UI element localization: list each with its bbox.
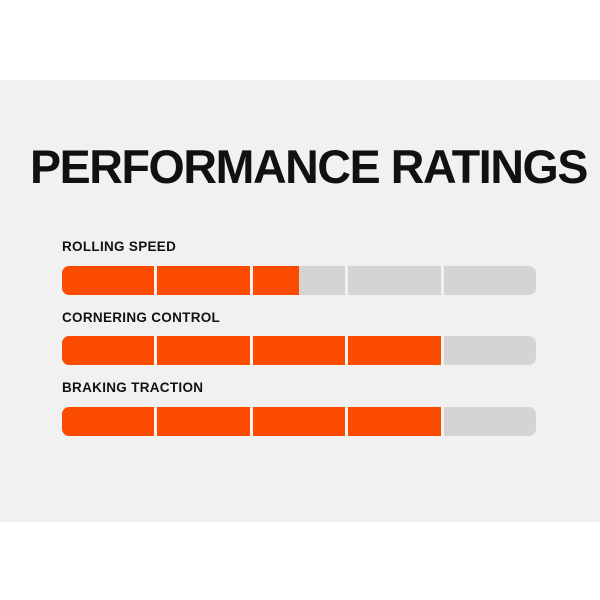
- rating-segment: [253, 407, 345, 436]
- rating-segment-fill: [253, 407, 345, 436]
- rating-segment: [348, 407, 440, 436]
- rating-segment: [157, 336, 249, 365]
- rating-label: CORNERING CONTROL: [62, 311, 536, 325]
- rating-segment-fill: [62, 266, 154, 295]
- rating-segment-fill: [157, 407, 249, 436]
- rating-segment-fill: [62, 336, 154, 365]
- rating-segment: [157, 266, 249, 295]
- ratings-list: ROLLING SPEEDCORNERING CONTROLBRAKING TR…: [62, 240, 536, 436]
- rating-bar: [62, 336, 536, 365]
- rating-segment-fill: [253, 336, 345, 365]
- rating-segment-fill: [348, 336, 440, 365]
- rating-segment: [348, 336, 440, 365]
- rating-segment-fill: [253, 266, 299, 295]
- rating-segment: [444, 407, 536, 436]
- rating-segment: [62, 266, 154, 295]
- rating-segment-fill: [157, 266, 249, 295]
- rating-segment: [253, 266, 345, 295]
- rating-segment: [157, 407, 249, 436]
- rating-row: CORNERING CONTROL: [62, 311, 536, 366]
- rating-label: BRAKING TRACTION: [62, 381, 536, 395]
- rating-row: BRAKING TRACTION: [62, 381, 536, 436]
- rating-bar: [62, 266, 536, 295]
- rating-segment: [444, 336, 536, 365]
- rating-segment-fill: [62, 407, 154, 436]
- rating-row: ROLLING SPEED: [62, 240, 536, 295]
- rating-segment: [348, 266, 440, 295]
- rating-segment: [62, 407, 154, 436]
- rating-bar: [62, 407, 536, 436]
- page-title: PERFORMANCE RATINGS: [30, 143, 587, 190]
- rating-segment-fill: [157, 336, 249, 365]
- rating-segment: [253, 336, 345, 365]
- rating-segment: [62, 336, 154, 365]
- rating-label: ROLLING SPEED: [62, 240, 536, 254]
- rating-segment-fill: [348, 407, 440, 436]
- rating-segment: [444, 266, 536, 295]
